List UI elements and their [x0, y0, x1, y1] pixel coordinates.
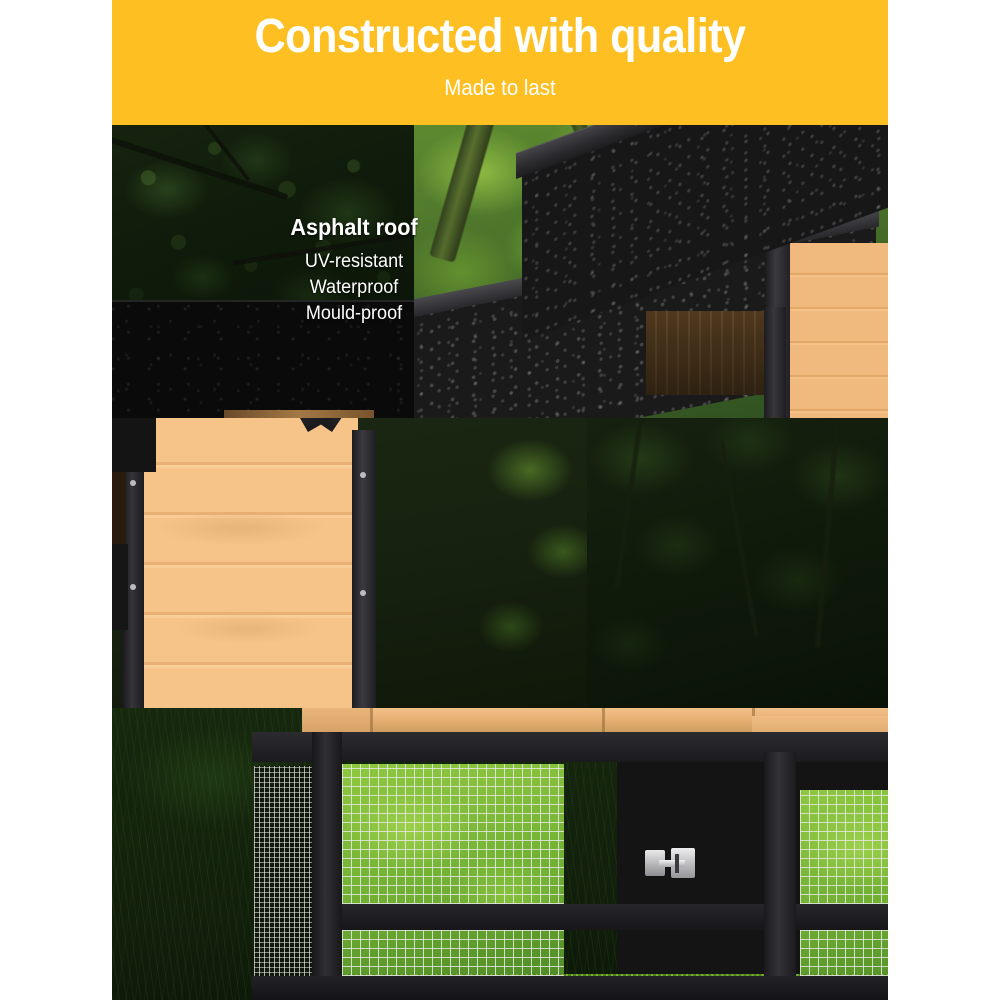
- screw-icon: [634, 125, 639, 126]
- interior-shadow: [646, 311, 768, 395]
- feature-row-wire-mesh: Powder-coated wire mesh Rust-proof Well …: [112, 708, 888, 1000]
- hutch-wood-wall: [786, 243, 888, 418]
- hedge-stem: [614, 418, 644, 587]
- page-title: Constructed with quality: [151, 9, 849, 65]
- feature-row-asphalt-roof: Asphalt roof UV-resistant Waterproof Mou…: [112, 125, 888, 418]
- run-post-left: [312, 732, 342, 1000]
- asphalt-roof-fragment: [112, 544, 128, 630]
- wood-grain-knot: [152, 510, 328, 546]
- screw-icon: [130, 480, 136, 486]
- feature-bullet: Mould-proof: [212, 301, 497, 327]
- photo-hedge-dark: [587, 418, 888, 708]
- feature-bullets: UV-resistant Waterproof Mould-proof: [204, 249, 504, 327]
- dark-gap: [112, 472, 126, 544]
- wire-mesh-panel-right[interactable]: [800, 790, 888, 976]
- asphalt-roof-fragment: [112, 418, 156, 472]
- hedge-stem: [720, 439, 759, 637]
- page-subtitle: Made to last: [139, 75, 861, 101]
- right-margin: [888, 0, 1000, 1000]
- wood-seam: [602, 708, 605, 732]
- latch-pin: [675, 854, 679, 873]
- feature-bullet: Waterproof: [212, 275, 497, 301]
- feature-row-fir-wood: Fir wood Weather-resistant Rot-resistant…: [112, 418, 888, 708]
- content-column: Constructed with quality Made to last: [112, 0, 888, 1000]
- feature-text-asphalt-roof: Asphalt roof UV-resistant Waterproof Mou…: [204, 213, 504, 327]
- screw-icon: [360, 472, 366, 478]
- wood-seam: [370, 708, 373, 732]
- wire-mesh-panel-left[interactable]: [342, 764, 564, 976]
- hedge-stem: [815, 418, 840, 648]
- hutch-support-post: [764, 307, 786, 418]
- mesh-side-panel: [254, 766, 316, 998]
- header-banner: Constructed with quality Made to last: [112, 0, 888, 125]
- screw-icon: [130, 584, 136, 590]
- left-margin: [0, 0, 112, 1000]
- photo-fir-wood-gable: [112, 418, 587, 708]
- run-frame-bottom-bar: [252, 976, 888, 1000]
- latch-bar: [659, 860, 685, 867]
- feature-bullet: UV-resistant: [212, 249, 497, 275]
- run-wood-block: [302, 708, 370, 732]
- infographic-canvas: Constructed with quality Made to last: [0, 0, 1000, 1000]
- run-mid-rail: [342, 904, 888, 930]
- wood-grain-knot: [172, 614, 322, 644]
- door-latch-icon[interactable]: [645, 846, 697, 880]
- wood-sliver: [224, 410, 374, 418]
- run-door-post: [764, 752, 796, 1000]
- mesh-fine-texture: [254, 766, 316, 998]
- feature-heading: Asphalt roof: [213, 213, 495, 241]
- screw-icon: [360, 590, 366, 596]
